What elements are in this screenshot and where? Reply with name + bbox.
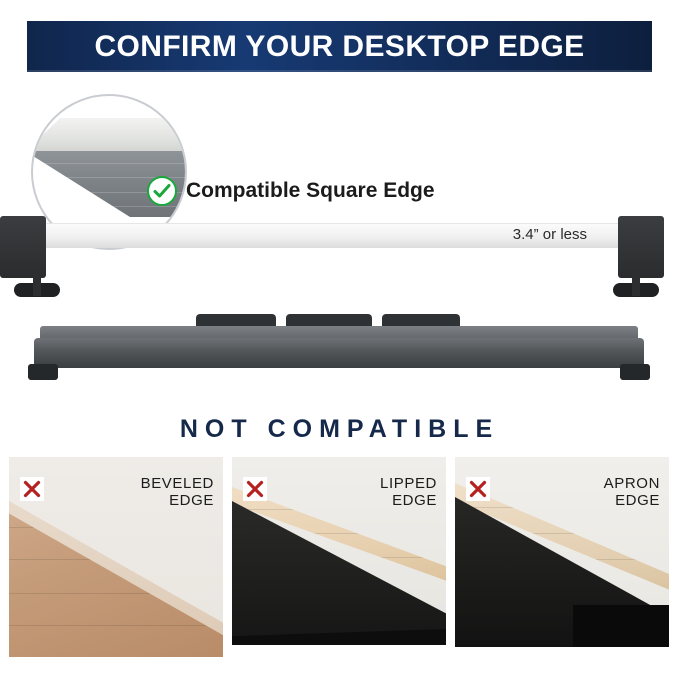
right-clamp [618, 216, 664, 278]
page-root: CONFIRM YOUR DESKTOP EDGE Compatible Squ… [0, 0, 679, 679]
panel-label: APRON EDGE [604, 475, 660, 509]
tray-arm-right [620, 364, 650, 380]
measurement-label: 3.4” or less [513, 226, 587, 243]
panel-floor [455, 647, 669, 657]
panel-beveled-edge: BEVELED EDGE [9, 457, 223, 657]
compatible-edge-label: Compatible Square Edge [186, 179, 435, 203]
wood-top-face [31, 118, 187, 152]
not-compatible-heading: NOT COMPATIBLE [0, 415, 679, 444]
tray-arm-left [28, 364, 58, 380]
panel-label: BEVELED EDGE [141, 475, 214, 509]
red-x-icon [243, 477, 267, 501]
main-illustration: Compatible Square Edge 3.4” or less [0, 76, 679, 396]
red-x-icon [20, 477, 44, 501]
red-x-icon [466, 477, 490, 501]
left-clamp-stem [33, 274, 41, 296]
keyboard-tray [34, 338, 644, 368]
page-title: CONFIRM YOUR DESKTOP EDGE [27, 30, 652, 64]
panel-floor [232, 645, 446, 657]
panel-apron-edge: APRON EDGE [455, 457, 669, 657]
left-clamp [0, 216, 46, 278]
panel-label: LIPPED EDGE [380, 475, 437, 509]
square-edge-wood-graphic [31, 118, 187, 228]
panel-lipped-edge: LIPPED EDGE [232, 457, 446, 657]
right-clamp-stem [632, 274, 640, 296]
header-banner: CONFIRM YOUR DESKTOP EDGE [27, 21, 652, 72]
green-check-icon [147, 176, 177, 206]
incompatible-panels: BEVELED EDGE LIPPED EDGE [9, 457, 670, 657]
